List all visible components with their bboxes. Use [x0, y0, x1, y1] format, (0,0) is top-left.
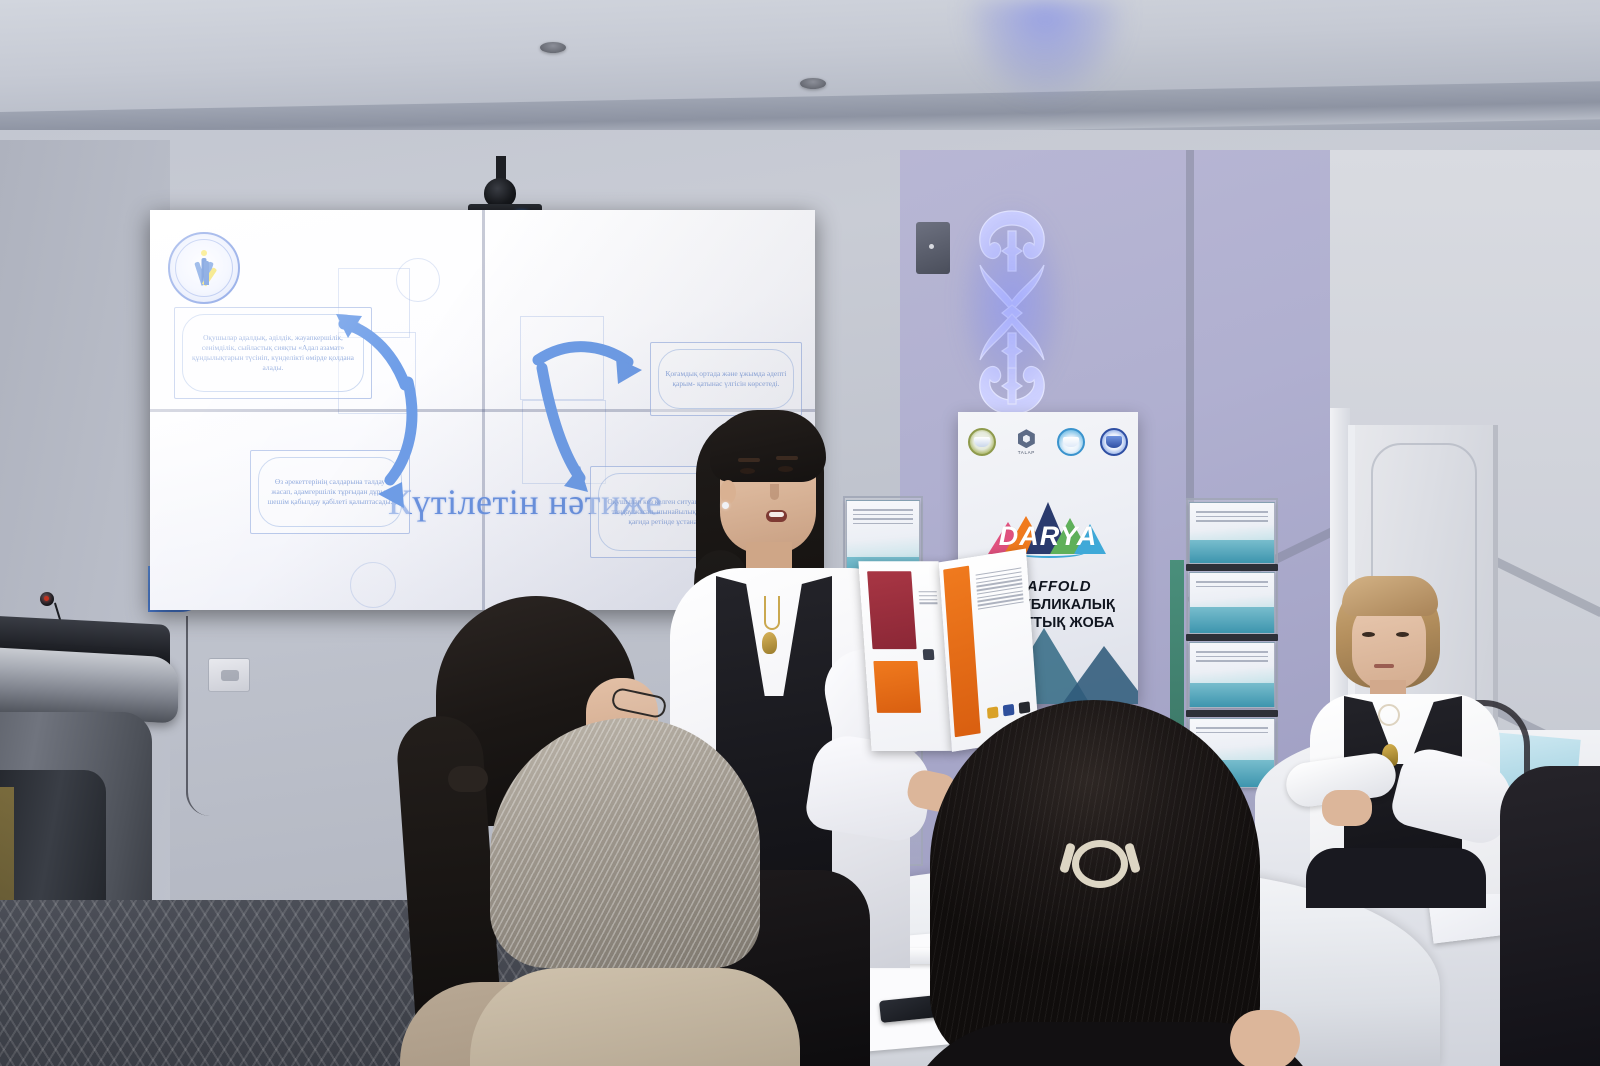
sunrise-book-emblem	[1057, 428, 1085, 456]
audience-gray-haired-person	[490, 718, 790, 1066]
presenter-ear	[720, 480, 736, 504]
presenter-eye-right	[778, 466, 793, 472]
presenter-mouth	[766, 510, 787, 522]
presenter-brooch	[762, 632, 777, 654]
seated-woman-right	[1300, 576, 1530, 886]
ministry-emblem-book-icon	[974, 437, 990, 447]
presenter-earring	[722, 502, 729, 509]
brochure-pocket-r3[interactable]	[1189, 642, 1275, 708]
brochure-teal-band	[1190, 540, 1274, 563]
brochure-left-text-lines	[919, 591, 938, 606]
audience-glasses-hair-tie	[448, 766, 488, 792]
sunrise-book-icon	[1063, 437, 1079, 447]
brochure-text-lines	[1196, 511, 1268, 533]
ceiling-downlight-1	[540, 42, 566, 53]
talap-hexagon-logo: TALAP	[1011, 429, 1041, 455]
partial-person-far-right	[1500, 766, 1600, 1066]
brochure-right-text-lines	[976, 567, 1024, 612]
education-fan-emblem	[1100, 428, 1128, 456]
presenter-nose	[770, 484, 779, 500]
brochure-teal-band	[1190, 607, 1274, 633]
education-fan-icon	[1106, 436, 1122, 448]
audience-woman-hairclip	[930, 700, 1290, 1066]
audience-gray-hair	[490, 718, 760, 968]
audience-hairclip-hand	[1230, 1010, 1300, 1066]
audience-hair-clip	[1072, 840, 1128, 888]
talap-label: TALAP	[1018, 450, 1035, 455]
presenter-eye-left	[740, 468, 755, 474]
banner-logo-row: TALAP	[968, 428, 1128, 456]
microphone-led	[44, 596, 49, 601]
seated-woman-mouth	[1374, 664, 1394, 668]
presenter-brow-right	[776, 456, 798, 460]
ministry-emblem	[968, 428, 996, 456]
talap-hex-icon	[1018, 429, 1035, 448]
brochure-text-lines	[1196, 651, 1268, 673]
seated-woman-eye-left	[1362, 632, 1375, 637]
brochure-text-lines	[1196, 581, 1268, 603]
seated-woman-hand	[1322, 790, 1372, 826]
kazakh-ornament-panel	[962, 205, 1062, 420]
brochure-orange-block	[873, 661, 921, 713]
brochure-shelf-r2	[1186, 634, 1278, 641]
brochure-pocket-r1[interactable]	[1189, 502, 1275, 564]
seated-woman-hair-front	[1342, 576, 1438, 616]
brochure-pocket-r2[interactable]	[1189, 572, 1275, 634]
darya-logo: DARYA	[982, 498, 1114, 560]
presenter-necklace	[764, 596, 780, 630]
audience-gray-body	[470, 968, 800, 1066]
power-cable-1	[186, 616, 210, 816]
brochure-left-icon	[923, 649, 935, 660]
brochure-red-block	[867, 571, 917, 649]
presenter-brow-left	[738, 458, 760, 462]
seated-woman-eye-right	[1396, 632, 1409, 637]
camera-mount	[496, 156, 506, 180]
wall-power-outlet[interactable]	[208, 658, 250, 692]
ceiling-downlight-2	[800, 78, 826, 89]
brochure-shelf-r1	[1186, 564, 1278, 571]
darya-wordmark: DARYA	[982, 521, 1114, 552]
conference-room-photo: Күтілетін нәтиже Оқушылар адалдық, әділд…	[0, 0, 1600, 1066]
seated-woman-legs	[1306, 848, 1486, 908]
ceiling-blue-glow	[930, 0, 1160, 150]
seated-woman-necklace	[1378, 704, 1400, 726]
presenter-hair-front	[710, 410, 826, 482]
